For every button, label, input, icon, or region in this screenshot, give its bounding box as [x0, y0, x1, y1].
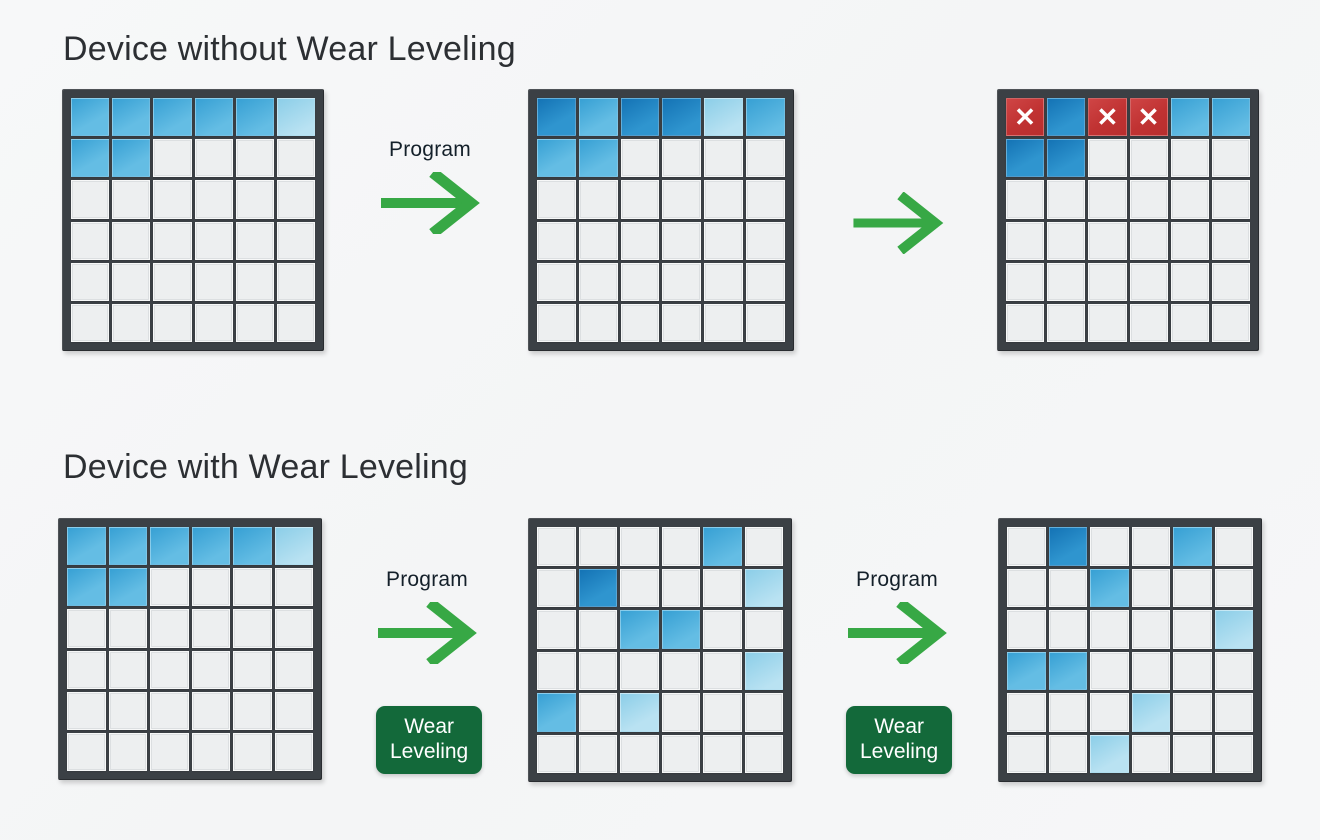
- memory-cell: [1007, 652, 1046, 691]
- memory-cell: [1090, 652, 1129, 691]
- memory-cell: [1173, 652, 1212, 691]
- memory-cell: [1047, 98, 1085, 136]
- memory-cell: [1132, 693, 1171, 732]
- memory-cell-grid: [537, 98, 785, 342]
- memory-cell: [1215, 610, 1254, 649]
- memory-cell: [1173, 610, 1212, 649]
- memory-cell: [746, 263, 785, 301]
- memory-cell: [109, 733, 148, 771]
- memory-cell: [109, 609, 148, 647]
- memory-cell: [1006, 263, 1044, 301]
- memory-cell: [236, 304, 274, 342]
- memory-cell: [275, 692, 314, 730]
- memory-cell: [195, 263, 233, 301]
- memory-cell: [112, 304, 150, 342]
- memory-cell: [192, 651, 231, 689]
- memory-cell: [620, 735, 659, 774]
- wear-leveling-badge-right: Wear Leveling: [846, 706, 952, 774]
- memory-cell: [71, 139, 109, 177]
- memory-cell: [277, 304, 315, 342]
- memory-cell: [1212, 304, 1250, 342]
- memory-cell: [112, 263, 150, 301]
- memory-cell-grid: [67, 527, 313, 771]
- arrow-right-icon: [372, 602, 482, 664]
- memory-cell: [537, 263, 576, 301]
- memory-cell: [579, 98, 618, 136]
- memory-cell: [746, 98, 785, 136]
- memory-cell: [67, 568, 106, 606]
- memory-cell: [1047, 263, 1085, 301]
- memory-cell: [1130, 222, 1168, 260]
- memory-cell: [579, 735, 618, 774]
- memory-cell: [704, 98, 743, 136]
- memory-cell: [1171, 98, 1209, 136]
- memory-cell: [537, 693, 576, 732]
- memory-cell: [620, 610, 659, 649]
- memory-cell: [275, 651, 314, 689]
- memory-cell: [745, 569, 784, 608]
- memory-cell: [1049, 527, 1088, 566]
- memory-cell: [1088, 222, 1126, 260]
- memory-cell: [1173, 527, 1212, 566]
- memory-cell: [112, 98, 150, 136]
- memory-cell: [109, 692, 148, 730]
- memory-cell: [277, 98, 315, 136]
- memory-cell: [67, 651, 106, 689]
- memory-cell: [662, 610, 701, 649]
- memory-cell: [233, 527, 272, 565]
- memory-cell: [192, 733, 231, 771]
- memory-cell: [745, 693, 784, 732]
- memory-cell: [1212, 98, 1250, 136]
- memory-cell: [1132, 527, 1171, 566]
- arrow-right-icon: [848, 192, 948, 254]
- memory-cell: [275, 609, 314, 647]
- memory-cell: [236, 98, 274, 136]
- memory-cell: [620, 652, 659, 691]
- memory-cell: [236, 180, 274, 218]
- memory-cell: [537, 180, 576, 218]
- memory-cell: [195, 180, 233, 218]
- memory-cell: [1006, 139, 1044, 177]
- memory-cell: [746, 180, 785, 218]
- memory-cell: [1088, 180, 1126, 218]
- memory-cell: [109, 527, 148, 565]
- memory-cell: [1090, 527, 1129, 566]
- memory-cell: [537, 222, 576, 260]
- memory-cell: [1047, 222, 1085, 260]
- memory-cell: [704, 263, 743, 301]
- memory-cell: [1212, 222, 1250, 260]
- memory-cell: [112, 222, 150, 260]
- program-arrow-top-left: Program: [375, 138, 485, 234]
- memory-cell: [109, 651, 148, 689]
- memory-cell: [275, 568, 314, 606]
- memory-cell: [1049, 652, 1088, 691]
- memory-cell: [704, 304, 743, 342]
- memory-cell: [112, 180, 150, 218]
- memory-cell: [1171, 139, 1209, 177]
- memory-cell: [620, 693, 659, 732]
- memory-cell: [236, 263, 274, 301]
- arrow-label: Program: [375, 138, 485, 162]
- memory-cell: [579, 652, 618, 691]
- memory-cell: [662, 180, 701, 218]
- memory-cell: [1215, 527, 1254, 566]
- memory-cell: [1132, 569, 1171, 608]
- memory-cell: [579, 304, 618, 342]
- memory-cell: [662, 222, 701, 260]
- memory-cell: [1090, 610, 1129, 649]
- memory-cell: [67, 692, 106, 730]
- memory-cell: [745, 735, 784, 774]
- memory-cell: [704, 222, 743, 260]
- memory-cell: [1006, 222, 1044, 260]
- memory-cell: [233, 692, 272, 730]
- memory-cell: [1212, 263, 1250, 301]
- memory-cell: [1049, 569, 1088, 608]
- memory-cell-grid: ✕✕✕: [1006, 98, 1250, 342]
- memory-cell: [1173, 569, 1212, 608]
- memory-cell: [579, 693, 618, 732]
- memory-cell-grid: [71, 98, 315, 342]
- arrow-right-icon: [375, 172, 485, 234]
- arrow-label: Program: [842, 568, 952, 592]
- memory-cell: [537, 139, 576, 177]
- memory-cell: [704, 139, 743, 177]
- memory-cell: [233, 609, 272, 647]
- memory-cell: [192, 609, 231, 647]
- memory-cell: [150, 733, 189, 771]
- memory-cell: [67, 609, 106, 647]
- memory-cell: ✕: [1006, 98, 1044, 136]
- arrow-right-icon: [842, 602, 952, 664]
- memory-cell: [277, 222, 315, 260]
- memory-cell: [236, 222, 274, 260]
- grid-after-second-program-wl: [998, 518, 1262, 782]
- memory-cell: [1047, 180, 1085, 218]
- memory-cell: [1007, 610, 1046, 649]
- memory-cell: [150, 609, 189, 647]
- memory-cell: [579, 139, 618, 177]
- memory-cell: [537, 735, 576, 774]
- section-title-without-wear-leveling: Device without Wear Leveling: [63, 30, 516, 69]
- memory-cell: [579, 180, 618, 218]
- memory-cell: [1171, 263, 1209, 301]
- memory-cell: [1049, 735, 1088, 774]
- memory-cell: [153, 98, 191, 136]
- memory-cell: [662, 263, 701, 301]
- memory-cell: [579, 527, 618, 566]
- memory-cell: [662, 693, 701, 732]
- wearout-arrow-top-right: [848, 192, 948, 254]
- memory-cell: [620, 527, 659, 566]
- memory-cell: [1173, 735, 1212, 774]
- arrow-label: Program: [372, 568, 482, 592]
- memory-cell: [1212, 139, 1250, 177]
- memory-cell: [537, 610, 576, 649]
- memory-cell: [537, 98, 576, 136]
- grid-initial-wl: [58, 518, 322, 780]
- grid-worn-out-no-wl: ✕✕✕: [997, 89, 1259, 351]
- memory-cell: [150, 527, 189, 565]
- memory-cell: [746, 222, 785, 260]
- memory-cell: [150, 651, 189, 689]
- memory-cell: [1088, 304, 1126, 342]
- memory-cell: [192, 527, 231, 565]
- grid-after-program-wl: [528, 518, 792, 782]
- memory-cell: [621, 139, 660, 177]
- memory-cell: [579, 610, 618, 649]
- memory-cell: [67, 527, 106, 565]
- memory-cell: [153, 222, 191, 260]
- memory-cell: [192, 692, 231, 730]
- memory-cell: [662, 98, 701, 136]
- memory-cell: [277, 263, 315, 301]
- memory-cell-grid: [537, 527, 783, 773]
- section-title-with-wear-leveling: Device with Wear Leveling: [63, 448, 468, 487]
- memory-cell: [109, 568, 148, 606]
- memory-cell: [1007, 569, 1046, 608]
- memory-cell: [275, 527, 314, 565]
- memory-cell: [1215, 735, 1254, 774]
- memory-cell: [1007, 527, 1046, 566]
- memory-cell: [1132, 610, 1171, 649]
- memory-cell: [662, 735, 701, 774]
- memory-cell: [277, 139, 315, 177]
- memory-cell: [703, 610, 742, 649]
- memory-cell: [195, 222, 233, 260]
- memory-cell: [1215, 652, 1254, 691]
- memory-cell: [579, 222, 618, 260]
- wear-leveling-badge-left: Wear Leveling: [376, 706, 482, 774]
- memory-cell: [233, 651, 272, 689]
- memory-cell: [621, 180, 660, 218]
- memory-cell: [703, 527, 742, 566]
- memory-cell: [71, 263, 109, 301]
- memory-cell: [703, 569, 742, 608]
- memory-cell: [1171, 180, 1209, 218]
- memory-cell: [71, 304, 109, 342]
- memory-cell: [233, 733, 272, 771]
- memory-cell: ✕: [1130, 98, 1168, 136]
- worn-out-x-icon: ✕: [1131, 99, 1167, 135]
- memory-cell: [1132, 735, 1171, 774]
- memory-cell: [1130, 304, 1168, 342]
- memory-cell: [153, 139, 191, 177]
- memory-cell: [1049, 693, 1088, 732]
- memory-cell: [1007, 693, 1046, 732]
- memory-cell: [236, 139, 274, 177]
- memory-cell: [662, 304, 701, 342]
- memory-cell: [621, 263, 660, 301]
- memory-cell: [1047, 304, 1085, 342]
- memory-cell: [71, 98, 109, 136]
- program-arrow-bottom-left: Program: [372, 568, 482, 664]
- memory-cell: [1173, 693, 1212, 732]
- memory-cell: [1130, 180, 1168, 218]
- memory-cell: [703, 652, 742, 691]
- memory-cell: [745, 527, 784, 566]
- memory-cell: [150, 568, 189, 606]
- memory-cell: [621, 222, 660, 260]
- memory-cell: [67, 733, 106, 771]
- memory-cell: [1090, 569, 1129, 608]
- memory-cell-grid: [1007, 527, 1253, 773]
- diagram-canvas: Device without Wear Leveling✕✕✕ProgramDe…: [0, 0, 1320, 840]
- memory-cell: ✕: [1088, 98, 1126, 136]
- memory-cell: [662, 569, 701, 608]
- memory-cell: [1006, 304, 1044, 342]
- memory-cell: [1171, 222, 1209, 260]
- memory-cell: [1212, 180, 1250, 218]
- memory-cell: [746, 304, 785, 342]
- worn-out-x-icon: ✕: [1007, 99, 1043, 135]
- memory-cell: [1047, 139, 1085, 177]
- memory-cell: [537, 304, 576, 342]
- memory-cell: [153, 304, 191, 342]
- memory-cell: [1049, 610, 1088, 649]
- memory-cell: [112, 139, 150, 177]
- memory-cell: [746, 139, 785, 177]
- memory-cell: [1006, 180, 1044, 218]
- memory-cell: [620, 569, 659, 608]
- memory-cell: [621, 304, 660, 342]
- memory-cell: [71, 180, 109, 218]
- grid-after-program-no-wl: [528, 89, 794, 351]
- memory-cell: [703, 693, 742, 732]
- memory-cell: [277, 180, 315, 218]
- memory-cell: [662, 139, 701, 177]
- memory-cell: [1130, 139, 1168, 177]
- memory-cell: [537, 527, 576, 566]
- memory-cell: [745, 610, 784, 649]
- memory-cell: [1215, 569, 1254, 608]
- grid-initial-no-wl: [62, 89, 324, 351]
- memory-cell: [195, 304, 233, 342]
- memory-cell: [1171, 304, 1209, 342]
- memory-cell: [1132, 652, 1171, 691]
- memory-cell: [195, 139, 233, 177]
- memory-cell: [1007, 735, 1046, 774]
- memory-cell: [621, 98, 660, 136]
- memory-cell: [662, 527, 701, 566]
- memory-cell: [537, 652, 576, 691]
- memory-cell: [1088, 139, 1126, 177]
- worn-out-x-icon: ✕: [1089, 99, 1125, 135]
- memory-cell: [1215, 693, 1254, 732]
- memory-cell: [1088, 263, 1126, 301]
- memory-cell: [537, 569, 576, 608]
- memory-cell: [233, 568, 272, 606]
- memory-cell: [195, 98, 233, 136]
- memory-cell: [153, 180, 191, 218]
- program-arrow-bottom-right: Program: [842, 568, 952, 664]
- memory-cell: [1090, 735, 1129, 774]
- memory-cell: [1130, 263, 1168, 301]
- memory-cell: [275, 733, 314, 771]
- memory-cell: [704, 180, 743, 218]
- memory-cell: [1090, 693, 1129, 732]
- memory-cell: [662, 652, 701, 691]
- memory-cell: [150, 692, 189, 730]
- memory-cell: [192, 568, 231, 606]
- memory-cell: [153, 263, 191, 301]
- memory-cell: [745, 652, 784, 691]
- memory-cell: [579, 569, 618, 608]
- memory-cell: [703, 735, 742, 774]
- memory-cell: [579, 263, 618, 301]
- memory-cell: [71, 222, 109, 260]
